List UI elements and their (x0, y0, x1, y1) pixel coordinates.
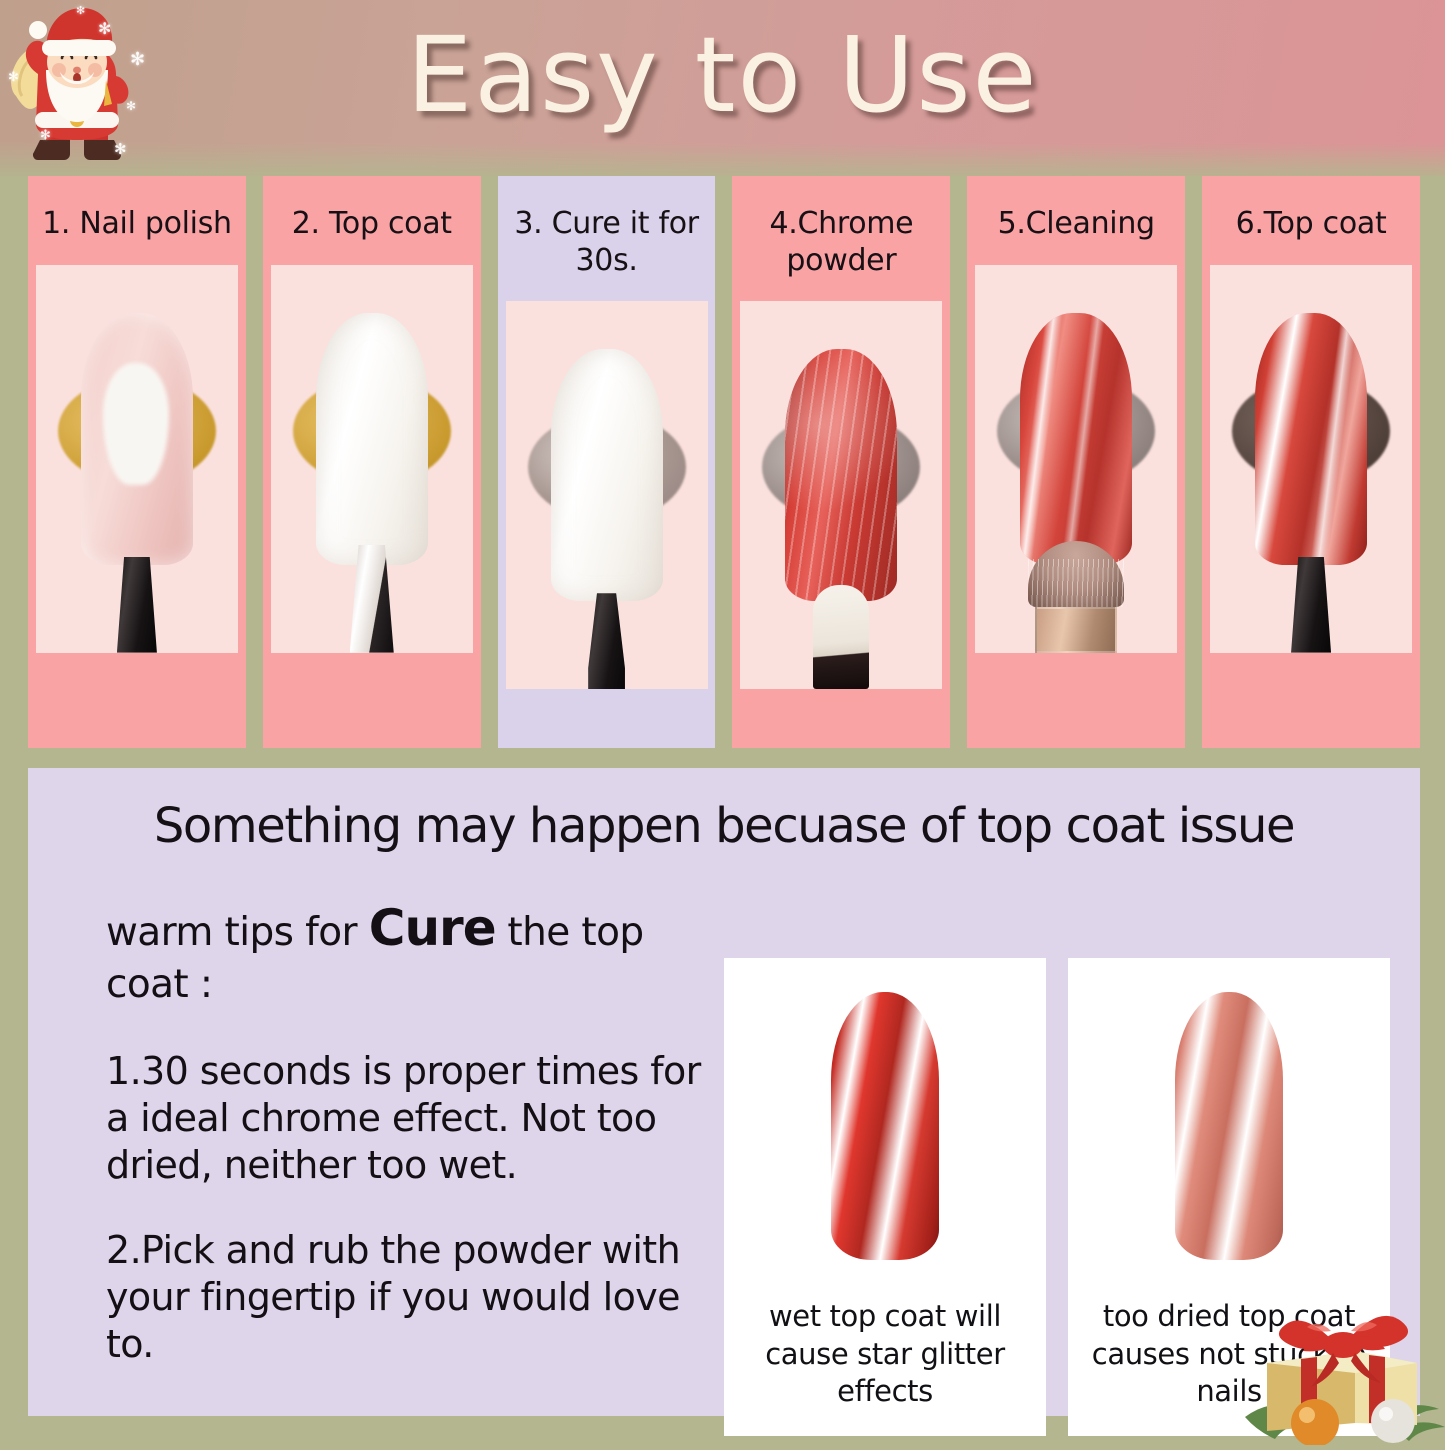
snowflake-icon: ✻ (8, 70, 19, 83)
tip-paragraph-2: 2.Pick and rub the powder with your fing… (106, 1227, 724, 1368)
step-photo-6 (1210, 265, 1412, 653)
step-card-3[interactable]: 3. Cure it for 30s. (498, 176, 716, 748)
nail-tip-image (316, 313, 428, 565)
snowflake-icon: ✻ (126, 100, 136, 112)
step-label: 4.Chrome powder (732, 206, 950, 279)
demo-card-wet[interactable]: wet top coat will cause star glitter eff… (724, 958, 1046, 1436)
snowflake-icon: ✻ (130, 50, 145, 68)
steps-row: 1. Nail polish 2. Top coat 3. Cure it fo… (28, 176, 1420, 748)
polish-brush-icon (587, 593, 627, 689)
demo-photo-wet (724, 958, 1046, 1298)
step-label: 5.Cleaning (992, 206, 1161, 243)
tip-paragraph-1: 1.30 seconds is proper times for a ideal… (106, 1048, 724, 1189)
demo-caption: wet top coat will cause star glitter eff… (724, 1298, 1046, 1411)
nail-tip-image (785, 349, 897, 601)
step-photo-3 (506, 301, 708, 689)
tips-panel: Something may happen becuase of top coat… (28, 768, 1420, 1416)
step-label: 1. Nail polish (36, 206, 238, 243)
snowflake-icon: ✻ (40, 128, 51, 141)
step-photo-2 (271, 265, 473, 653)
page-title: Easy to Use (0, 14, 1445, 136)
tips-lead: warm tips for Cure the top coat : (106, 896, 724, 1010)
demo-photo-dried (1068, 958, 1390, 1298)
panel-heading: Something may happen becuase of top coat… (28, 768, 1420, 854)
tips-column: warm tips for Cure the top coat : 1.30 s… (34, 854, 724, 1436)
demo-nail-image (1175, 992, 1283, 1260)
step-card-5[interactable]: 5.Cleaning (967, 176, 1185, 748)
step-card-2[interactable]: 2. Top coat (263, 176, 481, 748)
nail-tip-image (551, 349, 663, 601)
step-card-4[interactable]: 4.Chrome powder (732, 176, 950, 748)
polish-brush-icon (1291, 557, 1331, 653)
tips-lead-pre: warm tips for (106, 910, 369, 955)
step-photo-1 (36, 265, 238, 653)
snowflake-icon: ✻ (98, 22, 111, 38)
sponge-applicator-icon (813, 585, 869, 689)
step-photo-4 (740, 301, 942, 689)
nail-tip-image (1255, 313, 1367, 565)
cleaning-brush-icon (1028, 541, 1124, 653)
tips-lead-strong: Cure (369, 899, 496, 957)
santa-claus-icon: ✻ ✻ ✻ ✻ ✻ ✻ ✻ (2, 0, 152, 172)
step-card-6[interactable]: 6.Top coat (1202, 176, 1420, 748)
nail-tip-image (81, 313, 193, 565)
nail-tip-image (1020, 313, 1132, 565)
step-label: 2. Top coat (286, 206, 458, 243)
step-card-1[interactable]: 1. Nail polish (28, 176, 246, 748)
step-photo-5 (975, 265, 1177, 653)
snowflake-icon: ✻ (114, 142, 127, 157)
step-label: 3. Cure it for 30s. (498, 206, 716, 279)
snowflake-icon: ✻ (76, 6, 85, 17)
christmas-gift-box-icon (1237, 1267, 1445, 1445)
step-label: 6.Top coat (1230, 206, 1393, 243)
polish-brush-icon (117, 557, 157, 653)
demo-nail-image (831, 992, 939, 1260)
